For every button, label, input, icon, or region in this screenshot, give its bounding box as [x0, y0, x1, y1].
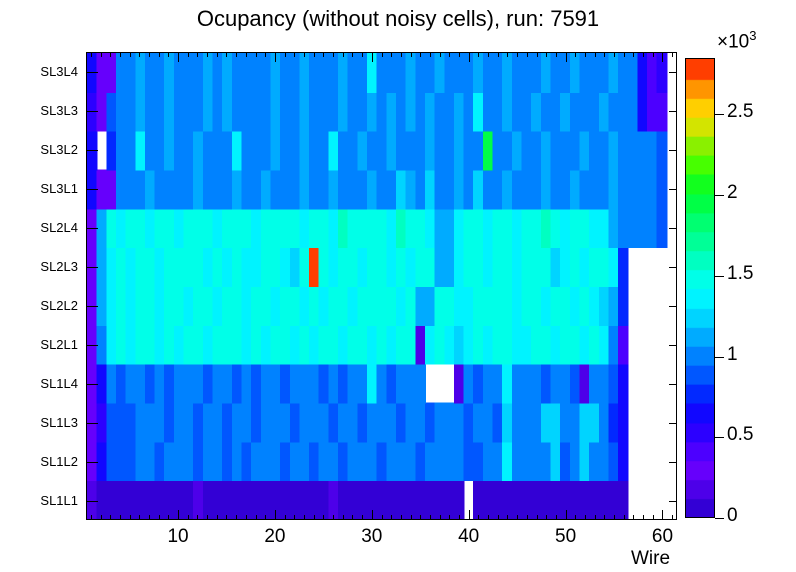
x-axis-tick-label: 30 — [342, 526, 402, 548]
x-axis-minor-tick — [304, 515, 305, 520]
y-axis-mirror-tick — [669, 72, 677, 73]
x-axis-minor-tick — [159, 515, 160, 520]
x-axis-tick-label: 20 — [245, 526, 305, 548]
x-axis-mirror-tick — [226, 52, 227, 57]
x-axis-mirror-tick — [265, 52, 266, 57]
x-axis-mirror-tick — [662, 52, 663, 62]
x-axis-minor-tick — [672, 515, 673, 520]
x-axis-mirror-tick — [236, 52, 237, 57]
x-axis-minor-tick — [507, 515, 508, 520]
x-axis-minor-tick — [585, 515, 586, 520]
color-bar-tick — [715, 195, 724, 196]
x-axis-mirror-tick — [633, 52, 634, 57]
y-axis-tick-label: SL2L3 — [12, 259, 78, 274]
x-axis-tick-label: 50 — [536, 526, 596, 548]
x-axis-minor-tick — [256, 515, 257, 520]
x-axis-tick-label: 10 — [148, 526, 208, 548]
x-axis-minor-tick — [459, 515, 460, 520]
x-axis-minor-tick — [478, 515, 479, 520]
y-axis-mirror-tick — [669, 111, 677, 112]
x-axis-mirror-tick — [275, 52, 276, 62]
x-axis-minor-tick — [333, 515, 334, 520]
y-axis-mirror-tick — [669, 306, 677, 307]
x-axis-minor-tick — [401, 515, 402, 520]
x-axis-minor-tick — [653, 515, 654, 520]
x-axis-mirror-tick — [178, 52, 179, 62]
x-axis-mirror-tick — [352, 52, 353, 57]
x-axis-minor-tick — [362, 515, 363, 520]
x-axis-mirror-tick — [343, 52, 344, 57]
x-axis-mirror-tick — [333, 52, 334, 57]
x-axis-major-tick — [662, 510, 663, 520]
x-axis-minor-tick — [91, 515, 92, 520]
x-axis-minor-tick — [488, 515, 489, 520]
x-axis-mirror-tick — [294, 52, 295, 57]
y-axis-mirror-tick — [669, 345, 677, 346]
color-bar-tick-label: 2 — [727, 182, 738, 204]
x-axis-mirror-tick — [401, 52, 402, 57]
x-axis-mirror-tick — [449, 52, 450, 57]
x-axis-minor-tick — [265, 515, 266, 520]
x-axis-minor-tick — [449, 515, 450, 520]
y-axis-tick — [86, 462, 98, 463]
x-axis-mirror-tick — [556, 52, 557, 57]
y-axis-tick — [86, 306, 98, 307]
x-axis-mirror-tick — [430, 52, 431, 57]
x-axis-major-tick — [372, 510, 373, 520]
x-axis-minor-tick — [517, 515, 518, 520]
y-axis-mirror-tick — [669, 228, 677, 229]
x-axis-minor-tick — [595, 515, 596, 520]
x-axis-minor-tick — [285, 515, 286, 520]
x-axis-minor-tick — [120, 515, 121, 520]
x-axis-minor-tick — [604, 515, 605, 520]
x-axis-mirror-tick — [498, 52, 499, 57]
x-axis-mirror-tick — [168, 52, 169, 57]
x-axis-minor-tick — [294, 515, 295, 520]
x-axis-title: Wire — [631, 548, 670, 570]
x-axis-mirror-tick — [546, 52, 547, 57]
x-axis-mirror-tick — [672, 52, 673, 57]
x-axis-mirror-tick — [130, 52, 131, 57]
x-axis-major-tick — [566, 510, 567, 520]
y-axis-tick — [86, 384, 98, 385]
x-axis-mirror-tick — [101, 52, 102, 57]
x-axis-minor-tick — [430, 515, 431, 520]
x-axis-minor-tick — [575, 515, 576, 520]
y-axis-tick-label: SL3L1 — [12, 181, 78, 196]
x-axis-mirror-tick — [604, 52, 605, 57]
x-axis-minor-tick — [246, 515, 247, 520]
y-axis-tick — [86, 267, 98, 268]
x-axis-mirror-tick — [382, 52, 383, 57]
y-axis-tick — [86, 189, 98, 190]
y-axis-tick-label: SL3L3 — [12, 103, 78, 118]
y-axis-mirror-tick — [669, 501, 677, 502]
x-axis-minor-tick — [197, 515, 198, 520]
y-axis-tick — [86, 501, 98, 502]
x-axis-major-tick — [178, 510, 179, 520]
x-axis-minor-tick — [440, 515, 441, 520]
x-axis-mirror-tick — [488, 52, 489, 57]
x-axis-mirror-tick — [643, 52, 644, 57]
x-axis-tick-label: 60 — [632, 526, 692, 548]
x-axis-minor-tick — [411, 515, 412, 520]
x-axis-mirror-tick — [469, 52, 470, 62]
x-axis-minor-tick — [527, 515, 528, 520]
x-axis-mirror-tick — [653, 52, 654, 57]
y-axis-tick-label: SL2L2 — [12, 298, 78, 313]
x-axis-tick-label: 40 — [439, 526, 499, 548]
x-axis-minor-tick — [391, 515, 392, 520]
y-axis-tick-label: SL1L4 — [12, 376, 78, 391]
color-bar-tick — [715, 276, 724, 277]
x-axis-major-tick — [469, 510, 470, 520]
y-axis-tick — [86, 228, 98, 229]
x-axis-minor-tick — [498, 515, 499, 520]
color-bar-tick — [715, 357, 724, 358]
x-axis-mirror-tick — [440, 52, 441, 57]
y-axis-mirror-tick — [669, 462, 677, 463]
x-axis-minor-tick — [314, 515, 315, 520]
x-axis-minor-tick — [110, 515, 111, 520]
x-axis-mirror-tick — [197, 52, 198, 57]
x-axis-mirror-tick — [285, 52, 286, 57]
y-axis-tick-label: SL1L3 — [12, 415, 78, 430]
y-axis-tick-label: SL1L2 — [12, 454, 78, 469]
y-axis-mirror-tick — [669, 423, 677, 424]
x-axis-mirror-tick — [585, 52, 586, 57]
x-axis-minor-tick — [168, 515, 169, 520]
y-axis-mirror-tick — [669, 189, 677, 190]
color-bar-tick-label: 0.5 — [727, 424, 753, 446]
x-axis-minor-tick — [382, 515, 383, 520]
color-bar-tick-label: 2.5 — [727, 101, 753, 123]
y-axis-mirror-tick — [669, 384, 677, 385]
x-axis-mirror-tick — [323, 52, 324, 57]
x-axis-minor-tick — [546, 515, 547, 520]
x-axis-mirror-tick — [459, 52, 460, 57]
x-axis-mirror-tick — [517, 52, 518, 57]
heatmap-frame — [86, 52, 677, 520]
x-axis-mirror-tick — [391, 52, 392, 57]
x-axis-major-tick — [275, 510, 276, 520]
y-axis-tick — [86, 423, 98, 424]
x-axis-mirror-tick — [159, 52, 160, 57]
color-bar-tick-label: 1.5 — [727, 263, 753, 285]
x-axis-mirror-tick — [110, 52, 111, 57]
x-axis-mirror-tick — [527, 52, 528, 57]
y-axis-tick — [86, 111, 98, 112]
plot-canvas-root: Ocupancy (without noisy cells), run: 759… — [0, 0, 796, 572]
y-axis-tick — [86, 72, 98, 73]
color-bar-tick — [715, 437, 724, 438]
y-axis-mirror-tick — [669, 267, 677, 268]
x-axis-mirror-tick — [372, 52, 373, 62]
heatmap-cells — [87, 53, 676, 519]
x-axis-minor-tick — [624, 515, 625, 520]
color-bar-tick — [715, 114, 724, 115]
x-axis-mirror-tick — [304, 52, 305, 57]
x-axis-minor-tick — [420, 515, 421, 520]
y-axis-tick-label: SL3L4 — [12, 64, 78, 79]
color-bar-tick-label: 1 — [727, 344, 738, 366]
x-axis-mirror-tick — [139, 52, 140, 57]
y-axis-tick-label: SL1L1 — [12, 493, 78, 508]
x-axis-minor-tick — [188, 515, 189, 520]
x-axis-mirror-tick — [537, 52, 538, 57]
x-axis-mirror-tick — [411, 52, 412, 57]
x-axis-mirror-tick — [256, 52, 257, 57]
x-axis-mirror-tick — [478, 52, 479, 57]
x-axis-minor-tick — [614, 515, 615, 520]
y-axis-tick-label: SL3L2 — [12, 142, 78, 157]
y-axis-tick-label: SL2L1 — [12, 337, 78, 352]
x-axis-minor-tick — [217, 515, 218, 520]
x-axis-mirror-tick — [188, 52, 189, 57]
x-axis-mirror-tick — [566, 52, 567, 62]
x-axis-minor-tick — [101, 515, 102, 520]
x-axis-minor-tick — [343, 515, 344, 520]
y-axis-tick — [86, 345, 98, 346]
x-axis-minor-tick — [207, 515, 208, 520]
x-axis-minor-tick — [352, 515, 353, 520]
x-axis-minor-tick — [633, 515, 634, 520]
x-axis-mirror-tick — [207, 52, 208, 57]
x-axis-mirror-tick — [420, 52, 421, 57]
y-axis-tick-label: SL2L4 — [12, 220, 78, 235]
color-bar-tick-label: 0 — [727, 505, 738, 527]
page-title: Ocupancy (without noisy cells), run: 759… — [0, 6, 796, 32]
x-axis-minor-tick — [556, 515, 557, 520]
x-axis-mirror-tick — [314, 52, 315, 57]
x-axis-mirror-tick — [120, 52, 121, 57]
x-axis-mirror-tick — [575, 52, 576, 57]
x-axis-minor-tick — [236, 515, 237, 520]
x-axis-mirror-tick — [149, 52, 150, 57]
x-axis-mirror-tick — [614, 52, 615, 57]
x-axis-minor-tick — [149, 515, 150, 520]
x-axis-minor-tick — [643, 515, 644, 520]
x-axis-minor-tick — [323, 515, 324, 520]
x-axis-mirror-tick — [624, 52, 625, 57]
x-axis-mirror-tick — [362, 52, 363, 57]
color-bar — [685, 58, 715, 518]
x-axis-mirror-tick — [91, 52, 92, 57]
x-axis-mirror-tick — [217, 52, 218, 57]
x-axis-minor-tick — [139, 515, 140, 520]
x-axis-minor-tick — [226, 515, 227, 520]
x-axis-mirror-tick — [507, 52, 508, 57]
x-axis-mirror-tick — [595, 52, 596, 57]
color-bar-exponent: ×103 — [717, 28, 756, 53]
x-axis-minor-tick — [537, 515, 538, 520]
x-axis-minor-tick — [130, 515, 131, 520]
y-axis-tick — [86, 150, 98, 151]
x-axis-mirror-tick — [246, 52, 247, 57]
color-bar-tick — [715, 518, 724, 519]
y-axis-mirror-tick — [669, 150, 677, 151]
